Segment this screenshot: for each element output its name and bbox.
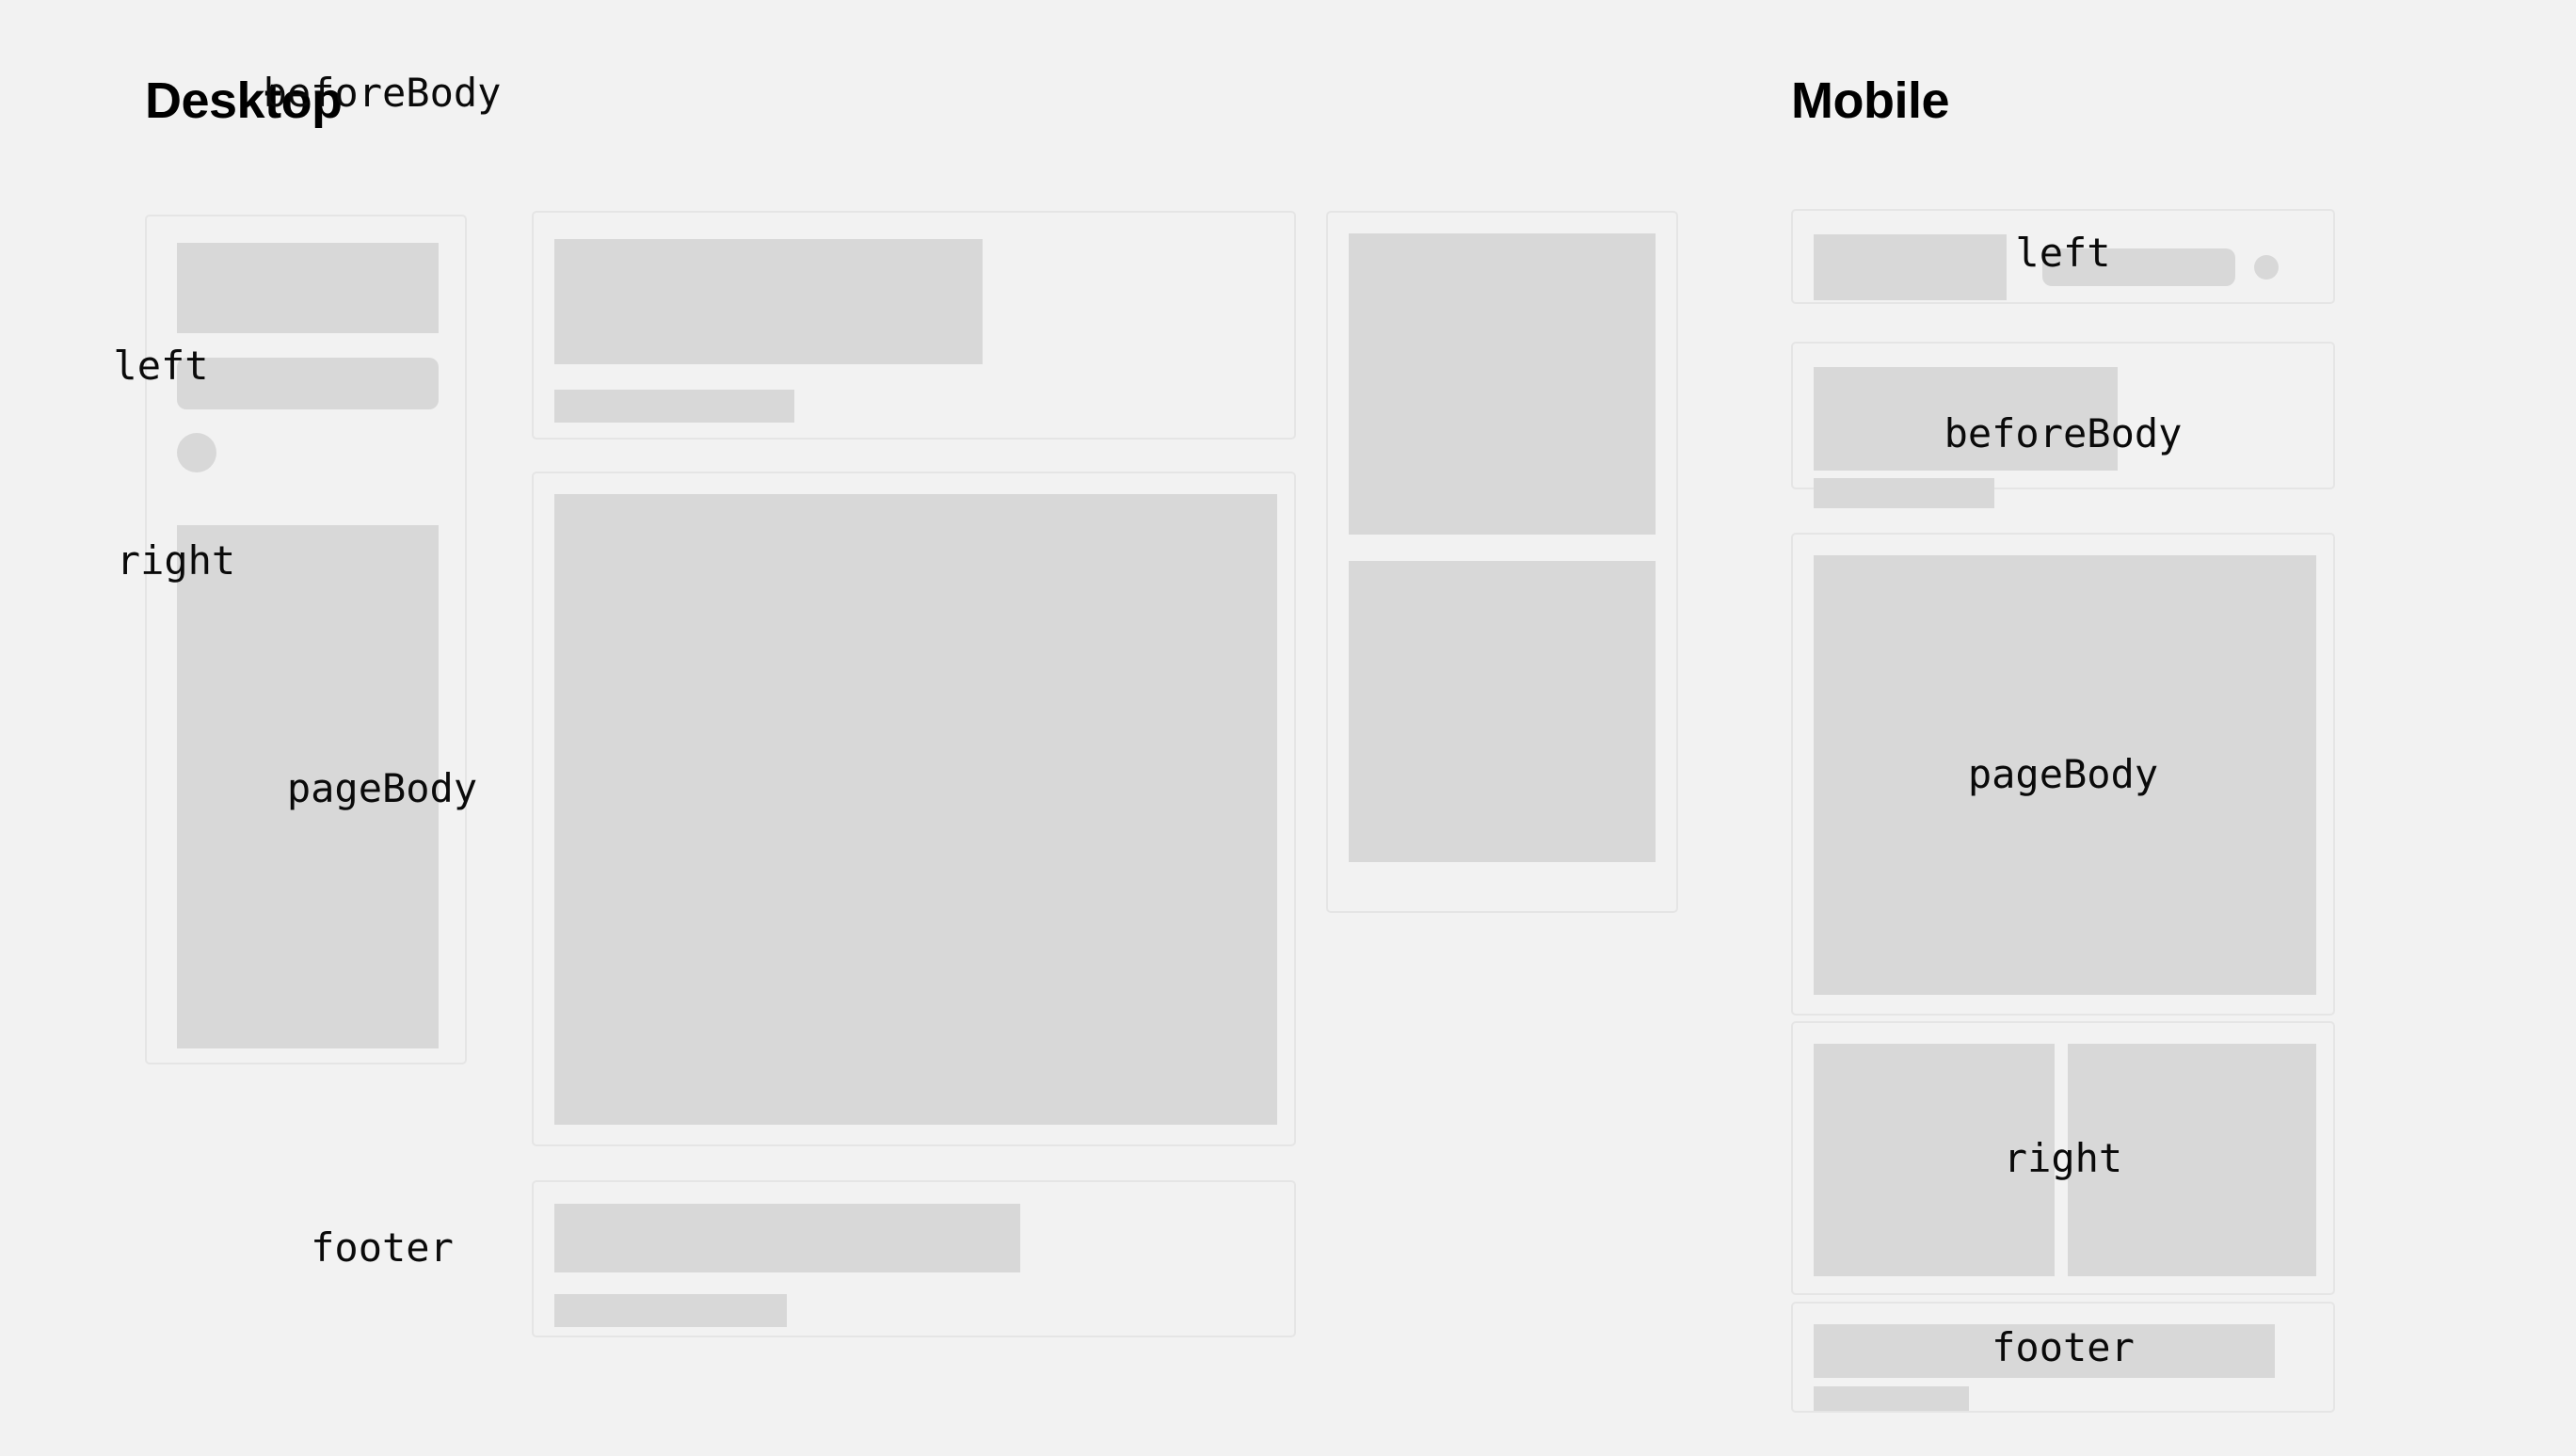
skeleton-block: [1814, 555, 2316, 995]
desktop-right-panel[interactable]: [1326, 211, 1678, 913]
skeleton-pill: [2042, 248, 2235, 286]
skeleton-block: [554, 494, 1277, 1125]
skeleton-block: [554, 1204, 1020, 1272]
desktop-page-body-panel[interactable]: [532, 472, 1296, 1146]
desktop-section-title: Desktop: [145, 75, 343, 126]
desktop-left-panel[interactable]: [145, 215, 467, 1064]
mobile-left-panel[interactable]: [1791, 209, 2335, 304]
skeleton-avatar-circle: [177, 433, 216, 472]
skeleton-bar: [1814, 478, 1994, 508]
skeleton-block: [554, 239, 983, 364]
skeleton-block: [1814, 1044, 2055, 1276]
skeleton-bar: [554, 1294, 787, 1327]
mobile-section-title: Mobile: [1791, 75, 1949, 126]
skeleton-bar: [554, 390, 794, 423]
skeleton-block: [177, 243, 439, 333]
skeleton-block: [1814, 1324, 2275, 1378]
wireframe-canvas: Desktop left beforeBody pageBody right f…: [0, 0, 2576, 1456]
skeleton-block: [1814, 234, 2007, 300]
desktop-footer-panel[interactable]: [532, 1180, 1296, 1337]
mobile-before-body-panel[interactable]: [1791, 342, 2335, 489]
skeleton-pill: [177, 358, 439, 409]
desktop-before-body-panel[interactable]: [532, 211, 1296, 440]
skeleton-avatar-circle: [2254, 255, 2279, 280]
skeleton-block: [1814, 367, 2118, 471]
skeleton-block: [177, 525, 439, 1048]
skeleton-bar: [1814, 1386, 1969, 1411]
skeleton-block: [1349, 561, 1656, 862]
skeleton-block: [1349, 233, 1656, 535]
desktop-slot-label-before-body: beforeBody: [0, 73, 764, 113]
mobile-page-body-panel[interactable]: [1791, 533, 2335, 1016]
mobile-right-panel[interactable]: [1791, 1021, 2335, 1295]
mobile-footer-panel[interactable]: [1791, 1302, 2335, 1413]
skeleton-block: [2068, 1044, 2316, 1276]
